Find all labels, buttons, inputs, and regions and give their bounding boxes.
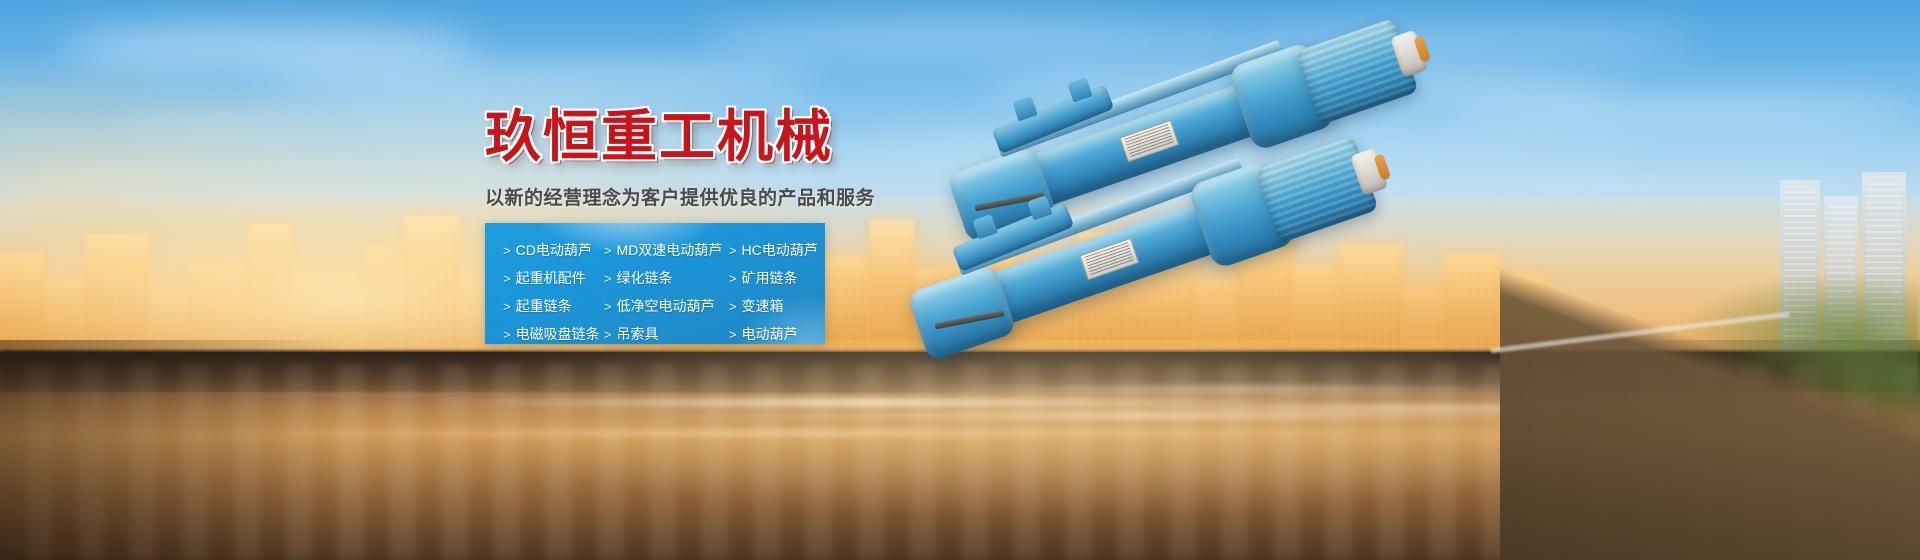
chevron-right-icon: >	[729, 300, 737, 313]
chevron-right-icon: >	[604, 244, 612, 257]
chevron-right-icon: >	[729, 244, 737, 257]
chevron-right-icon: >	[604, 300, 612, 313]
product-label: 变速箱	[741, 296, 783, 316]
product-label: 电动葫芦	[741, 324, 797, 344]
chevron-right-icon: >	[729, 272, 737, 285]
product-row: > CD电动葫芦 > MD双速电动葫芦 > HC电动葫芦	[503, 236, 825, 264]
product-link-md-dual-speed-hoist[interactable]: > MD双速电动葫芦	[604, 240, 729, 260]
chevron-right-icon: >	[729, 328, 737, 341]
product-row: > 起重机配件 > 绿化链条 > 矿用链条	[503, 264, 825, 292]
product-label: 低净空电动葫芦	[617, 296, 715, 316]
product-label: 绿化链条	[617, 268, 673, 288]
product-label: HC电动葫芦	[741, 240, 817, 260]
product-link-magnetic-chuck-chain[interactable]: > 电磁吸盘链条	[503, 324, 604, 344]
product-label: 矿用链条	[741, 268, 797, 288]
product-link-slings[interactable]: > 吊索具	[604, 324, 729, 344]
chevron-right-icon: >	[604, 272, 612, 285]
cloud	[1450, 96, 1910, 126]
product-label: CD电动葫芦	[516, 240, 592, 260]
product-label: 吊索具	[617, 324, 659, 344]
cloud	[260, 60, 820, 96]
electric-hoist-product-images	[860, 40, 1480, 400]
product-label: 起重链条	[516, 296, 572, 316]
product-link-greening-chain[interactable]: > 绿化链条	[604, 268, 729, 288]
chevron-right-icon: >	[503, 300, 511, 313]
product-row: > 起重链条 > 低净空电动葫芦 > 变速箱	[503, 292, 825, 320]
product-label: MD双速电动葫芦	[617, 240, 723, 260]
product-link-crane-parts[interactable]: > 起重机配件	[503, 268, 604, 288]
product-link-low-headroom-hoist[interactable]: > 低净空电动葫芦	[604, 296, 729, 316]
product-link-electric-hoist[interactable]: > 电动葫芦	[729, 324, 825, 344]
hero-banner: 玖恒重工机械 以新的经营理念为客户提供优良的产品和服务 > CD电动葫芦 > M…	[0, 0, 1920, 560]
product-link-lifting-chain[interactable]: > 起重链条	[503, 296, 604, 316]
chevron-right-icon: >	[604, 328, 612, 341]
chevron-right-icon: >	[503, 328, 511, 341]
page-subtitle: 以新的经营理念为客户提供优良的产品和服务	[485, 183, 905, 210]
page-title: 玖恒重工机械	[485, 108, 905, 167]
product-link-cd-hoist[interactable]: > CD电动葫芦	[503, 240, 604, 260]
headline-block: 玖恒重工机械 以新的经营理念为客户提供优良的产品和服务	[485, 108, 905, 210]
product-list-panel: > CD电动葫芦 > MD双速电动葫芦 > HC电动葫芦 > 起重机配件 > 绿…	[485, 223, 825, 344]
roadside-embankment	[1500, 270, 1920, 560]
chevron-right-icon: >	[503, 244, 511, 257]
product-row: > 电磁吸盘链条 > 吊索具 > 电动葫芦	[503, 320, 825, 348]
product-label: 起重机配件	[516, 268, 586, 288]
chevron-right-icon: >	[503, 272, 511, 285]
product-label: 电磁吸盘链条	[516, 324, 600, 344]
product-link-hc-hoist[interactable]: > HC电动葫芦	[729, 240, 825, 260]
